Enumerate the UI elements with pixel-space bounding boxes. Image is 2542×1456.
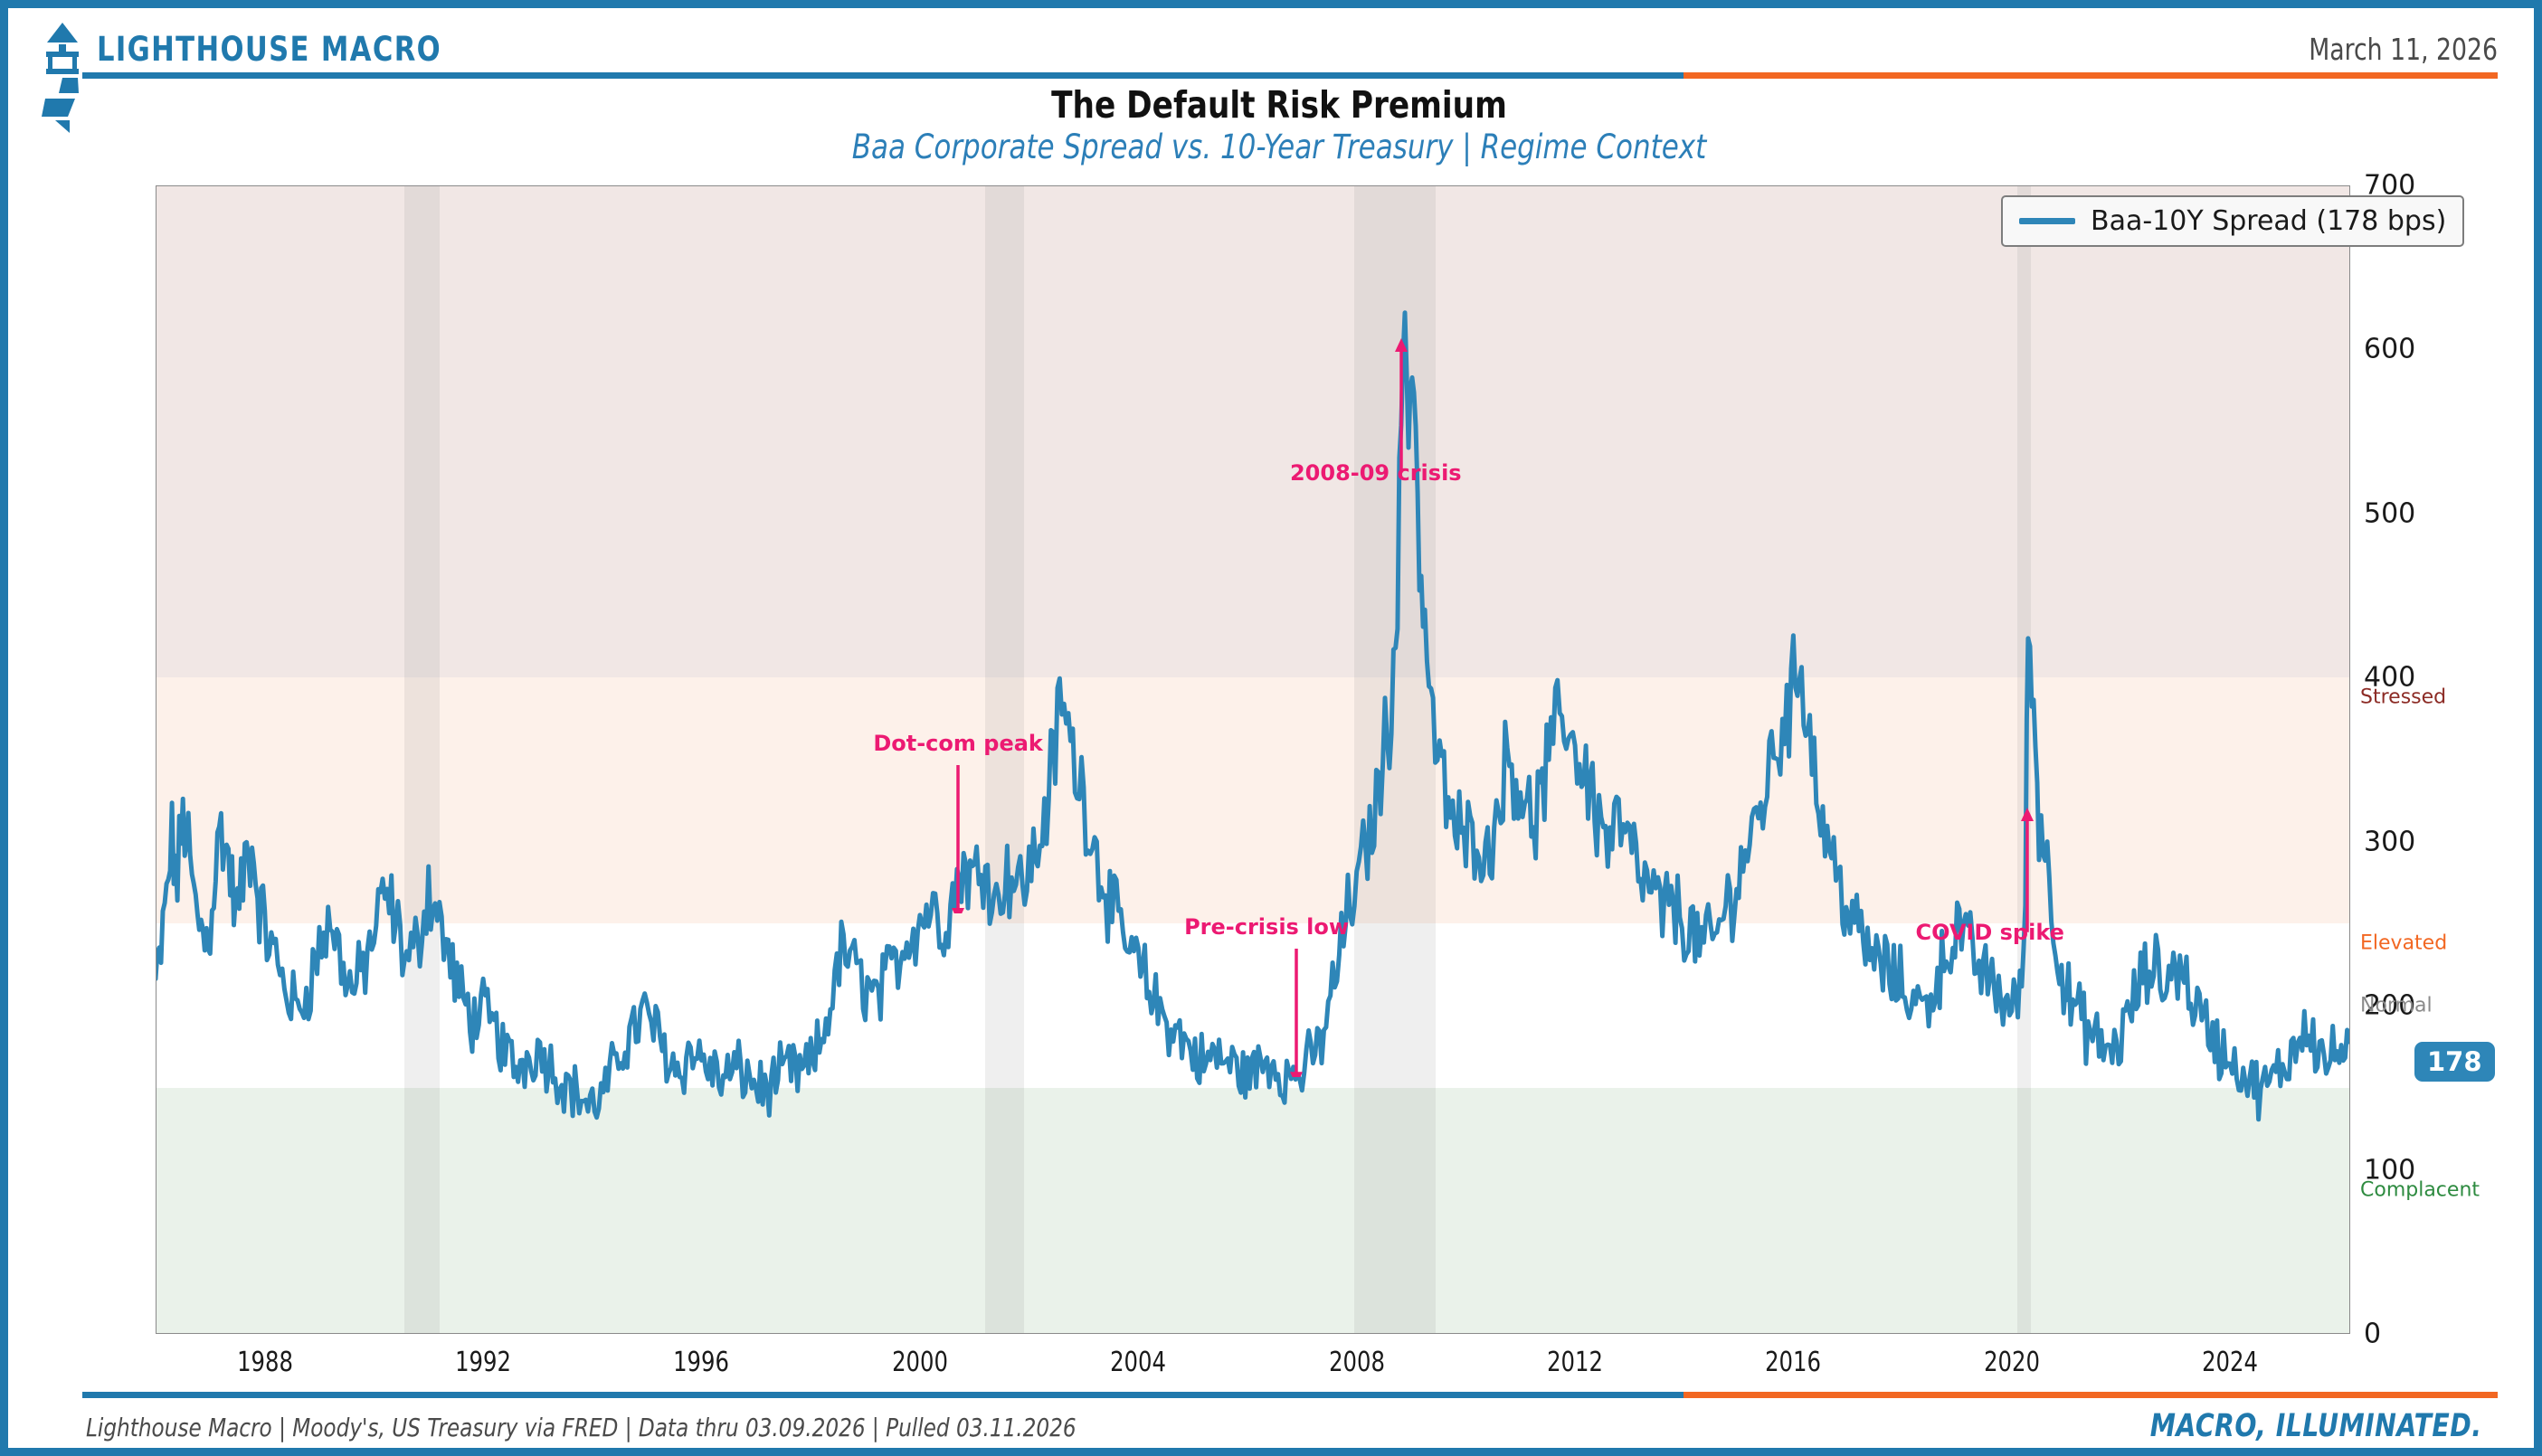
- page-subtitle: Baa Corporate Spread vs. 10-Year Treasur…: [97, 128, 2461, 166]
- x-axis-tick: 2012: [1547, 1347, 1603, 1378]
- annotation-label: 2008-09 crisis: [1290, 460, 1462, 486]
- regime-label-normal: Normal: [2360, 995, 2433, 1017]
- x-axis-tick: 2020: [1984, 1347, 2040, 1378]
- spread-line-series: [156, 185, 2350, 1334]
- x-axis-tick: 1988: [237, 1347, 293, 1378]
- last-value-badge: 178: [2414, 1042, 2495, 1082]
- chart-legend[interactable]: Baa-10Y Spread (178 bps): [2001, 195, 2464, 247]
- lighthouse-icon: [35, 21, 90, 134]
- regime-label-stressed: Stressed: [2360, 686, 2446, 709]
- legend-color-swatch: [2019, 218, 2075, 224]
- x-axis-tick: 1996: [674, 1347, 730, 1378]
- regime-label-elevated: Elevated: [2360, 932, 2447, 955]
- chart-plot: [156, 185, 2350, 1334]
- x-axis-tick: 2000: [892, 1347, 948, 1378]
- x-axis-tick: 1992: [455, 1347, 511, 1378]
- annotation-arrow: [1388, 334, 1415, 476]
- y-axis-tick: 500: [2364, 497, 2415, 529]
- chart-area: [156, 185, 2350, 1334]
- footer-rule-blue: [82, 1392, 1684, 1398]
- report-page: LIGHTHOUSE MACRO March 11, 2026 The Defa…: [0, 0, 2542, 1456]
- y-axis-tick: 600: [2364, 334, 2415, 365]
- annotation-label: Pre-crisis low: [1184, 914, 1349, 940]
- regime-label-complacent: Complacent: [2360, 1178, 2480, 1201]
- page-title: The Default Risk Premium: [97, 83, 2461, 127]
- footer-tagline: MACRO, ILLUMINATED.: [2149, 1408, 2481, 1444]
- annotation-arrow: [2014, 803, 2041, 935]
- x-axis-tick: 2024: [2202, 1347, 2258, 1378]
- legend-label: Baa-10Y Spread (178 bps): [2091, 205, 2446, 237]
- x-axis-tick: 2008: [1329, 1347, 1385, 1378]
- report-date: March 11, 2026: [2309, 32, 2498, 67]
- annotation-arrow: [1283, 924, 1310, 1077]
- x-axis-tick: 2016: [1766, 1347, 1822, 1378]
- y-axis-tick: 0: [2364, 1319, 2381, 1350]
- x-axis-tick: 2004: [1110, 1347, 1166, 1378]
- brand-title: LIGHTHOUSE MACRO: [97, 30, 441, 69]
- annotation-label: COVID spike: [1915, 920, 2063, 945]
- annotation-arrow: [944, 741, 972, 913]
- header-rule-blue: [82, 72, 1684, 79]
- footer-source: Lighthouse Macro | Moody's, US Treasury …: [86, 1413, 1077, 1442]
- y-axis-tick: 300: [2364, 826, 2415, 857]
